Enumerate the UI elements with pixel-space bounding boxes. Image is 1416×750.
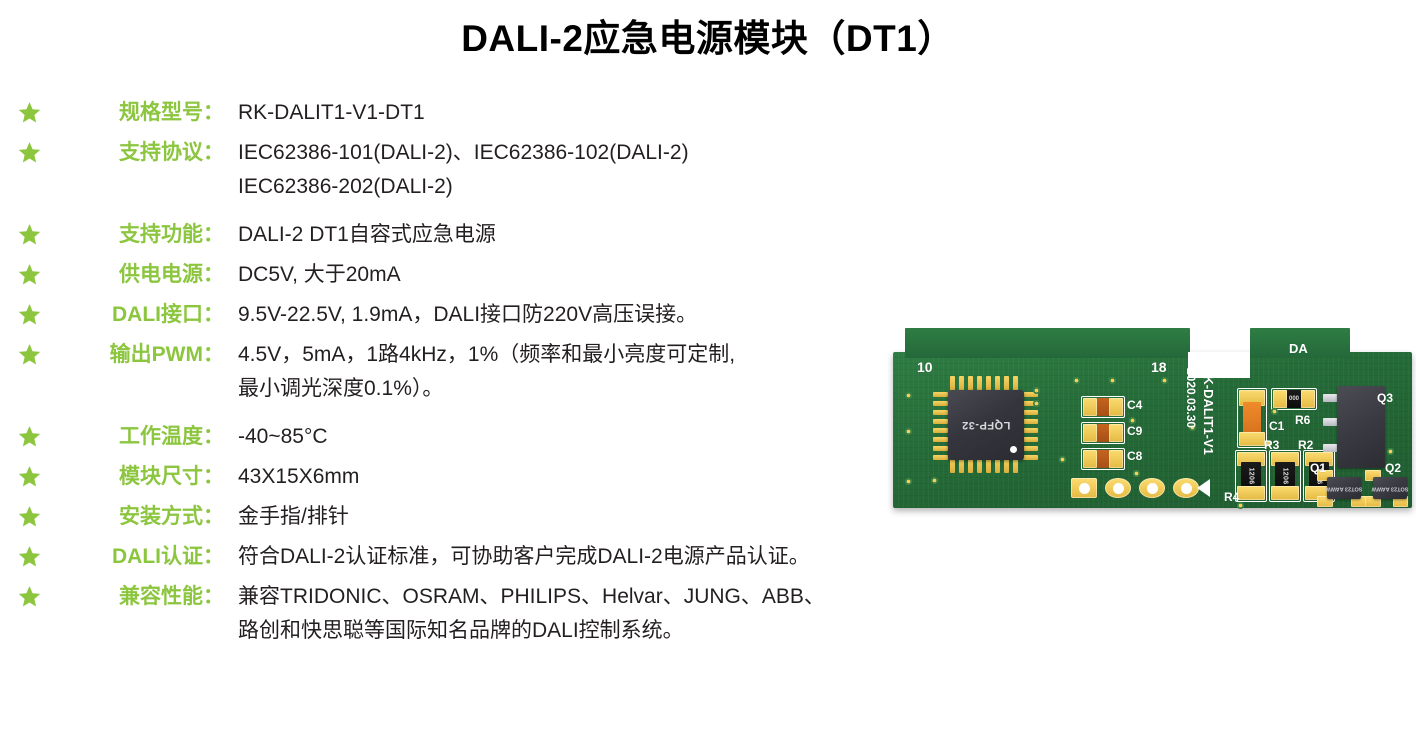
spec-value: 9.5V-22.5V, 1.9mA，DALI接口防220V高压误接。	[224, 298, 900, 332]
spec-value: 兼容TRIDONIC、OSRAM、PHILIPS、Helvar、JUNG、ABB…	[224, 580, 900, 648]
star-bullet-cell	[0, 338, 58, 366]
silkscreen-r6: R6	[1295, 414, 1310, 426]
pcb-notch	[1188, 352, 1250, 378]
spec-value: DC5V, 大于20mA	[224, 258, 900, 292]
cap-c8-pad-left	[1083, 450, 1097, 468]
cap-c4-body	[1097, 398, 1109, 416]
specification-list: 规格型号： RK-DALIT1-V1-DT1 支持协议： IEC62386-10…	[0, 96, 900, 654]
spec-value-line: RK-DALIT1-V1-DT1	[238, 96, 900, 130]
chip-pin1-dot	[1010, 446, 1017, 453]
spec-value-line: IEC62386-202(DALI-2)	[238, 170, 900, 204]
via-hole	[1129, 417, 1136, 424]
res-r3-code: 1206	[1282, 468, 1289, 485]
spec-row-compatibility: 兼容性能： 兼容TRIDONIC、OSRAM、PHILIPS、Helvar、JU…	[0, 580, 900, 648]
via-hole	[905, 392, 912, 399]
star-icon	[18, 303, 41, 326]
res-r4-pad-bottom	[1237, 486, 1265, 500]
spec-label: 安装方式：	[58, 500, 224, 534]
cap-c8-pad-right	[1109, 450, 1123, 468]
via-hole	[1059, 456, 1066, 463]
cap-c9-pad-left	[1083, 424, 1097, 442]
star-icon	[18, 465, 41, 488]
chip-marking: LQFP-32	[962, 419, 1011, 431]
star-icon	[18, 223, 41, 246]
star-bullet-cell	[0, 460, 58, 488]
star-bullet-cell	[0, 420, 58, 448]
spec-value-line: 4.5V，5mA，1路4kHz，1%（频率和最小亮度可定制,	[238, 338, 900, 372]
via-hole	[905, 428, 912, 435]
ic-lqfp32: LQFP-32	[948, 390, 1024, 460]
star-icon	[18, 101, 41, 124]
star-icon	[18, 545, 41, 568]
star-icon	[18, 585, 41, 608]
silkscreen-r4: R4	[1224, 491, 1239, 503]
res-r6-code: 000	[1289, 396, 1299, 402]
spec-label: 支持功能：	[58, 218, 224, 252]
cap-c4-pad-right	[1109, 398, 1123, 416]
spec-label: 规格型号：	[58, 96, 224, 130]
spec-value: 符合DALI-2认证标准，可协助客户完成DALI-2电源产品认证。	[224, 540, 900, 574]
star-icon	[18, 505, 41, 528]
star-bullet-cell	[0, 96, 58, 124]
star-bullet-cell	[0, 540, 58, 568]
spec-label: 支持协议：	[58, 136, 224, 170]
res-r6-pad-right	[1301, 390, 1315, 408]
spec-value: RK-DALIT1-V1-DT1	[224, 96, 900, 130]
via-hole	[1133, 470, 1140, 477]
star-bullet-cell	[0, 580, 58, 608]
transistor-q2: SOT23 AAWW	[1373, 477, 1407, 499]
spec-value-line: 符合DALI-2认证标准，可协助客户完成DALI-2电源产品认证。	[238, 540, 900, 574]
star-bullet-cell	[0, 258, 58, 286]
spec-value-line: -40~85°C	[238, 420, 900, 454]
program-pad-square	[1071, 478, 1097, 498]
product-photo-pcb: DA 10 18 RK-DALIT1-V1 2020.03.30	[893, 328, 1412, 508]
via-hole	[1161, 377, 1168, 384]
program-pad-round	[1173, 478, 1199, 498]
transistor-q1: SOT23 AAWW	[1327, 477, 1361, 499]
pcb-tab-left	[905, 328, 1190, 358]
silkscreen-pin-18: 18	[1151, 360, 1167, 374]
spec-label: 兼容性能：	[58, 580, 224, 614]
spec-value-line: 43X15X6mm	[238, 460, 900, 494]
spec-row-operating-temperature: 工作温度： -40~85°C	[0, 420, 900, 454]
spec-row-mounting: 安装方式： 金手指/排针	[0, 500, 900, 534]
spec-row-dali-interface: DALI接口： 9.5V-22.5V, 1.9mA，DALI接口防220V高压误…	[0, 298, 900, 332]
spec-value-line: DC5V, 大于20mA	[238, 258, 900, 292]
spec-row-pwm-output: 输出PWM： 4.5V，5mA，1路4kHz，1%（频率和最小亮度可定制, 最小…	[0, 338, 900, 406]
cap-c8-body	[1097, 450, 1109, 468]
spec-row-function: 支持功能： DALI-2 DT1自容式应急电源	[0, 218, 900, 252]
cap-c4-pad-left	[1083, 398, 1097, 416]
silkscreen-q1: Q1	[1310, 462, 1326, 474]
star-bullet-cell	[0, 298, 58, 326]
spec-row-power-supply: 供电电源： DC5V, 大于20mA	[0, 258, 900, 292]
via-hole	[931, 477, 938, 484]
via-hole	[1073, 377, 1080, 384]
star-icon	[18, 425, 41, 448]
star-bullet-cell	[0, 218, 58, 246]
res-r6-pad-left	[1273, 390, 1287, 408]
spec-value: IEC62386-101(DALI-2)、IEC62386-102(DALI-2…	[224, 136, 900, 204]
cap-c9-pad-right	[1109, 424, 1123, 442]
spec-value-line: 金手指/排针	[238, 500, 900, 534]
spec-row-dali-certification: DALI认证： 符合DALI-2认证标准，可协助客户完成DALI-2电源产品认证…	[0, 540, 900, 574]
via-hole	[905, 478, 912, 485]
spec-value-line: DALI-2 DT1自容式应急电源	[238, 218, 900, 252]
silkscreen-r3: R3	[1264, 439, 1279, 451]
polarity-triangle-marker	[1197, 479, 1210, 497]
res-r6-body: 000	[1287, 390, 1301, 408]
via-hole	[1387, 448, 1394, 455]
silkscreen-q3: Q3	[1377, 392, 1393, 404]
spec-row-dimensions: 模块尺寸： 43X15X6mm	[0, 460, 900, 494]
star-icon	[18, 141, 41, 164]
silkscreen-c1: C1	[1269, 420, 1284, 432]
cap-c1-pad-bottom	[1239, 432, 1265, 446]
q2-marking: SOT23 AAWW	[1372, 484, 1409, 491]
spec-value: -40~85°C	[224, 420, 900, 454]
program-pad-round	[1139, 478, 1165, 498]
chip-pins-bottom	[950, 458, 1022, 474]
cap-c1-body	[1243, 402, 1261, 436]
silkscreen-board-name: RK-DALIT1-V1	[1202, 366, 1215, 455]
res-r4-code: 1206	[1248, 468, 1255, 485]
silkscreen-c8: C8	[1127, 450, 1142, 462]
spec-value-line: 9.5V-22.5V, 1.9mA，DALI接口防220V高压误接。	[238, 298, 900, 332]
silkscreen-c9: C9	[1127, 425, 1142, 437]
res-r3-pad-bottom	[1271, 486, 1299, 500]
silkscreen-da-label: DA	[1289, 342, 1308, 355]
spec-value-line: 兼容TRIDONIC、OSRAM、PHILIPS、Helvar、JUNG、ABB…	[238, 580, 900, 614]
star-icon	[18, 263, 41, 286]
silkscreen-r2: R2	[1298, 439, 1313, 451]
star-icon	[18, 343, 41, 366]
via-hole	[1271, 408, 1278, 415]
spec-value-line: 路创和快思聪等国际知名品牌的DALI控制系统。	[238, 614, 900, 648]
program-pad-round	[1105, 478, 1131, 498]
spec-label: DALI认证：	[58, 540, 224, 574]
chip-pins-left	[933, 392, 949, 458]
silkscreen-c4: C4	[1127, 399, 1142, 411]
cap-c9-body	[1097, 424, 1109, 442]
spec-label: 工作温度：	[58, 420, 224, 454]
silkscreen-pin-10: 10	[917, 360, 933, 374]
spec-value: DALI-2 DT1自容式应急电源	[224, 218, 900, 252]
q1-marking: SOT23 AAWW	[1326, 484, 1363, 491]
spec-label: DALI接口：	[58, 298, 224, 332]
spec-value-line: 最小调光深度0.1%）。	[238, 372, 900, 406]
spec-value: 4.5V，5mA，1路4kHz，1%（频率和最小亮度可定制, 最小调光深度0.1…	[224, 338, 900, 406]
spec-row-protocol: 支持协议： IEC62386-101(DALI-2)、IEC62386-102(…	[0, 136, 900, 204]
spec-label: 输出PWM：	[58, 338, 224, 372]
spec-value: 43X15X6mm	[224, 460, 900, 494]
spec-value-line: IEC62386-101(DALI-2)、IEC62386-102(DALI-2…	[238, 136, 900, 170]
page-title: DALI-2应急电源模块（DT1）	[0, 0, 1416, 62]
pcb-board-body: 10 18 RK-DALIT1-V1 2020.03.30	[893, 352, 1412, 508]
star-bullet-cell	[0, 136, 58, 164]
via-hole	[1033, 400, 1040, 407]
spec-value: 金手指/排针	[224, 500, 900, 534]
silkscreen-q2: Q2	[1385, 462, 1401, 474]
via-hole	[1109, 377, 1116, 384]
spec-row-model: 规格型号： RK-DALIT1-V1-DT1	[0, 96, 900, 130]
spec-label: 模块尺寸：	[58, 460, 224, 494]
via-hole	[1033, 387, 1040, 394]
spec-label: 供电电源：	[58, 258, 224, 292]
star-bullet-cell	[0, 500, 58, 528]
